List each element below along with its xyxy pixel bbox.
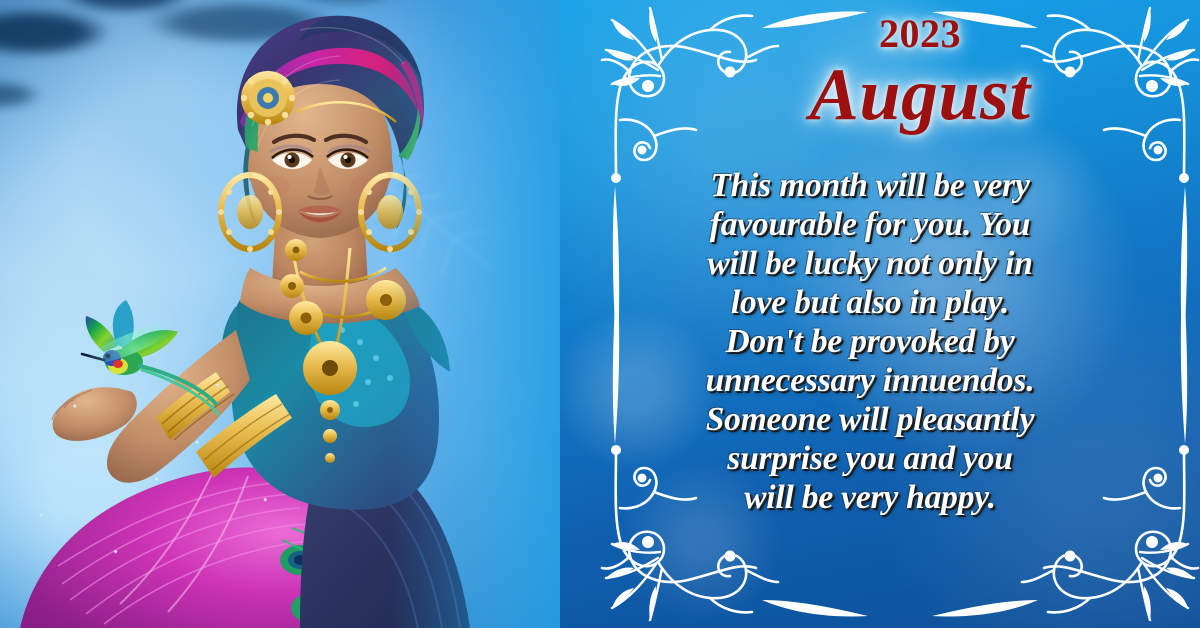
- turban-brooch: [241, 71, 295, 125]
- forecast-text-block: This month will be very favourable for y…: [648, 166, 1092, 517]
- header-block: 2023 August: [640, 14, 1200, 133]
- year-label: 2023: [640, 14, 1200, 54]
- horoscope-banner: 2023 August This month will be very favo…: [0, 0, 1200, 628]
- month-title: August: [640, 58, 1200, 133]
- forecast-paragraph: This month will be very favourable for y…: [648, 166, 1092, 517]
- portrait-artwork: [0, 0, 620, 628]
- sparkle-overlay: [0, 328, 340, 588]
